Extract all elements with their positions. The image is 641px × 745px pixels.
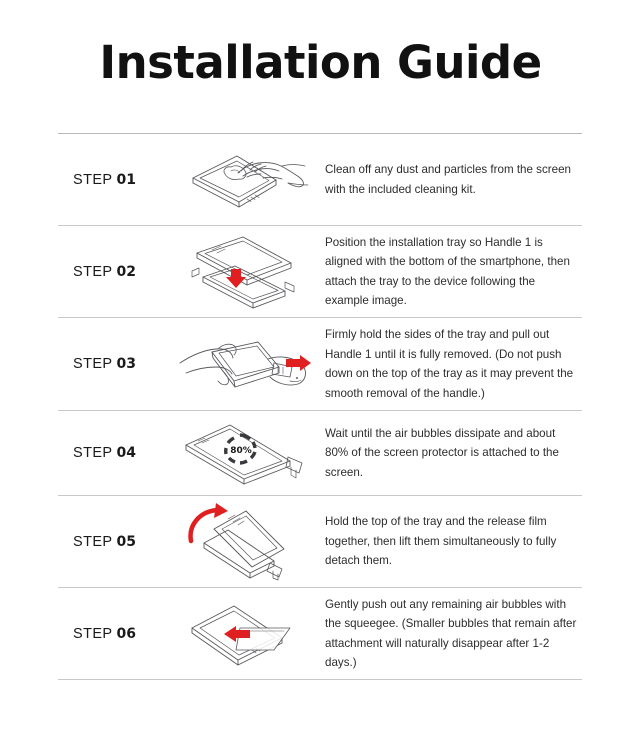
step-description: Wait until the air bubbles dissipate and…: [318, 424, 582, 483]
step-label: STEP05: [58, 534, 174, 550]
down-arrow-icon: [226, 269, 246, 288]
step-illustration: [174, 144, 318, 216]
step-label: STEP04: [58, 445, 174, 461]
step-word: STEP: [73, 356, 112, 372]
curved-arrow-head-icon: [214, 503, 228, 518]
step-row: STEP02: [58, 226, 582, 318]
step-word: STEP: [73, 264, 112, 280]
phone-with-80-percent-bubble-dial-icon: 80%: [178, 417, 314, 489]
tray-lift-curved-arrow-icon: [178, 501, 314, 583]
step-number: 05: [116, 534, 135, 550]
steps-list: STEP01: [58, 133, 582, 680]
step-label: STEP06: [58, 626, 174, 642]
step-description: Position the installation tray so Handle…: [318, 233, 582, 311]
squeegee-push-bubbles-left-arrow-icon: [178, 598, 314, 670]
step-label: STEP03: [58, 356, 174, 372]
step-description: Hold the top of the tray and the release…: [318, 512, 582, 571]
page-title: Installation Guide: [0, 36, 641, 89]
step-number: 06: [116, 626, 135, 642]
tray-aligned-over-phone-down-arrow-icon: [181, 233, 311, 311]
step-label: STEP02: [58, 264, 174, 280]
hands-pulling-handle-right-arrow-icon: [178, 325, 314, 403]
step-number: 02: [116, 264, 135, 280]
step-description: Firmly hold the sides of the tray and pu…: [318, 325, 582, 403]
step-row: STEP06: [58, 588, 582, 680]
step-number: 03: [116, 356, 135, 372]
step-row: STEP05: [58, 496, 582, 588]
step-word: STEP: [73, 172, 112, 188]
step-illustration: [174, 325, 318, 403]
step-row: STEP03: [58, 318, 582, 411]
step-row: STEP01: [58, 134, 582, 226]
step-row: STEP04: [58, 411, 582, 496]
step-illustration: [174, 233, 318, 311]
step-description: Clean off any dust and particles from th…: [318, 160, 582, 199]
step-word: STEP: [73, 626, 112, 642]
progress-badge-label: 80%: [230, 446, 252, 456]
right-arrow-icon: [286, 355, 311, 371]
step-number: 04: [116, 445, 135, 461]
curved-up-arrow-icon: [191, 510, 218, 541]
installation-guide-page: Installation Guide STEP01: [0, 0, 641, 745]
step-illustration: [174, 598, 318, 670]
step-description: Gently push out any remaining air bubble…: [318, 595, 582, 673]
step-word: STEP: [73, 445, 112, 461]
step-word: STEP: [73, 534, 112, 550]
step-illustration: [174, 501, 318, 583]
step-illustration: 80%: [174, 417, 318, 489]
hand-wiping-phone-with-cloth-icon: [181, 144, 311, 216]
step-number: 01: [116, 172, 135, 188]
step-label: STEP01: [58, 172, 174, 188]
